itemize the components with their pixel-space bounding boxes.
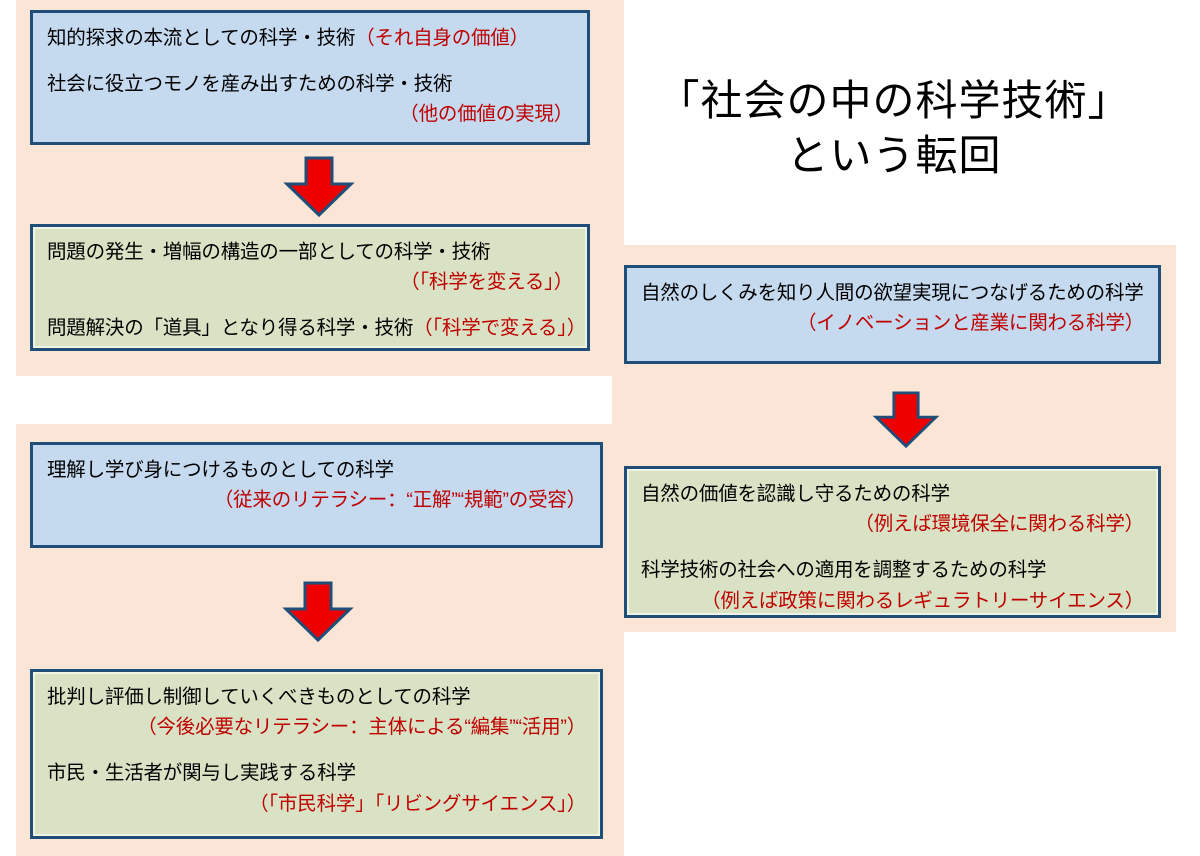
- box-left-3-line-1-note-row: （従来のリテラシー：“正解”“規範”の受容）: [47, 485, 586, 515]
- box-left-4-line-1-note-row: （今後必要なリテラシー：主体による“編集”“活用”）: [47, 712, 586, 742]
- box-left-4-line-2-note-row: （「市民科学」「リビングサイエンス」）: [47, 789, 586, 819]
- box-left-2-line-1-note: （「科学を変える」）: [400, 271, 573, 293]
- box-left-4-spacer: [47, 742, 586, 758]
- box-left-3-line-1-note: （従来のリテラシー：“正解”“規範”の受容）: [214, 489, 586, 511]
- down-arrow-icon-left-1: [283, 156, 355, 218]
- box-left-4-line-2-note: （「市民科学」「リビングサイエンス」）: [249, 793, 586, 815]
- box-right-1-line-1-note: （イノベーションと産業に関わる科学）: [797, 312, 1144, 334]
- page-title: 「社会の中の科学技術」 という転回: [624, 73, 1164, 184]
- box-right-2-line-2-note-row: （例えば政策に関わるレギュラトリーサイエンス）: [641, 586, 1144, 616]
- concept-box-left-4: 批判し評価し制御していくべきものとしての科学 （今後必要なリテラシー：主体による…: [30, 669, 603, 839]
- box-right-1-line-1-text: 自然のしくみを知り人間の欲望実現につなげるための科学: [641, 282, 1144, 304]
- box-left-3-line-1-text: 理解し学び身につけるものとしての科学: [47, 459, 394, 481]
- box-left-1-line-1: 知的探求の本流としての科学・技術（それ自身の価値）: [47, 23, 573, 53]
- concept-box-right-2: 自然の価値を認識し守るための科学 （例えば環境保全に関わる科学） 科学技術の社会…: [624, 466, 1161, 618]
- concept-box-left-3: 理解し学び身につけるものとしての科学 （従来のリテラシー：“正解”“規範”の受容…: [30, 442, 603, 548]
- box-left-4-line-1-text: 批判し評価し制御していくべきものとしての科学: [47, 686, 470, 708]
- box-left-1-line-2-note-row: （他の価値の実現）: [47, 99, 573, 129]
- box-left-3-line-1: 理解し学び身につけるものとしての科学: [47, 455, 586, 485]
- box-left-1-line-2: 社会に役立つモノを産み出すための科学・技術: [47, 69, 573, 99]
- box-right-2-spacer: [641, 539, 1144, 555]
- title-line-2: という転回: [624, 128, 1164, 183]
- box-left-2-line-1: 問題の発生・増幅の構造の一部としての科学・技術: [47, 237, 573, 267]
- box-right-2-line-1-text: 自然の価値を認識し守るための科学: [641, 483, 950, 505]
- box-left-4-line-1-note: （今後必要なリテラシー：主体による“編集”“活用”）: [137, 716, 586, 738]
- box-right-2-line-2: 科学技術の社会への適用を調整するための科学: [641, 555, 1144, 585]
- box-right-2-line-2-text: 科学技術の社会への適用を調整するための科学: [641, 559, 1046, 581]
- down-arrow-icon-left-2: [282, 581, 354, 643]
- box-right-2-line-1: 自然の価値を認識し守るための科学: [641, 479, 1144, 509]
- box-right-2-line-1-note: （例えば環境保全に関わる科学）: [854, 513, 1144, 535]
- box-right-2-line-1-note-row: （例えば環境保全に関わる科学）: [641, 509, 1144, 539]
- box-left-2-line-2-note: （「科学で変える」）: [413, 317, 586, 339]
- concept-box-left-2: 問題の発生・増幅の構造の一部としての科学・技術 （「科学を変える」） 問題解決の…: [30, 224, 590, 351]
- concept-box-left-1: 知的探求の本流としての科学・技術（それ自身の価値） 社会に役立つモノを産み出すた…: [30, 10, 590, 145]
- box-left-4-line-1: 批判し評価し制御していくべきものとしての科学: [47, 682, 586, 712]
- box-left-1-spacer: [47, 53, 573, 69]
- box-left-2-line-1-note-row: （「科学を変える」）: [47, 267, 573, 297]
- concept-box-right-1: 自然のしくみを知り人間の欲望実現につなげるための科学 （イノベーションと産業に関…: [624, 265, 1161, 364]
- box-left-4-line-2: 市民・生活者が関与し実践する科学: [47, 758, 586, 788]
- box-right-1-line-1-note-row: （イノベーションと産業に関わる科学）: [641, 308, 1144, 338]
- box-left-2-line-2: 問題解決の「道具」となり得る科学・技術（「科学で変える」）: [47, 313, 573, 343]
- box-right-2-line-2-note: （例えば政策に関わるレギュラトリーサイエンス）: [701, 590, 1144, 612]
- box-left-1-line-2-note: （他の価値の実現）: [399, 103, 573, 125]
- box-left-1-line-2-text: 社会に役立つモノを産み出すための科学・技術: [47, 73, 452, 95]
- box-left-2-line-2-text: 問題解決の「道具」となり得る科学・技術: [47, 317, 413, 339]
- box-right-1-line-1: 自然のしくみを知り人間の欲望実現につなげるための科学: [641, 278, 1144, 308]
- down-arrow-icon-right-1: [872, 391, 940, 449]
- box-left-4-line-2-text: 市民・生活者が関与し実践する科学: [47, 762, 356, 784]
- box-left-1-line-1-text: 知的探求の本流としての科学・技術: [47, 27, 355, 49]
- box-left-2-line-1-text: 問題の発生・増幅の構造の一部としての科学・技術: [47, 241, 490, 263]
- box-left-1-line-1-note: （それ自身の価値）: [355, 27, 529, 49]
- box-left-2-spacer: [47, 297, 573, 313]
- title-line-1: 「社会の中の科学技術」: [624, 73, 1164, 128]
